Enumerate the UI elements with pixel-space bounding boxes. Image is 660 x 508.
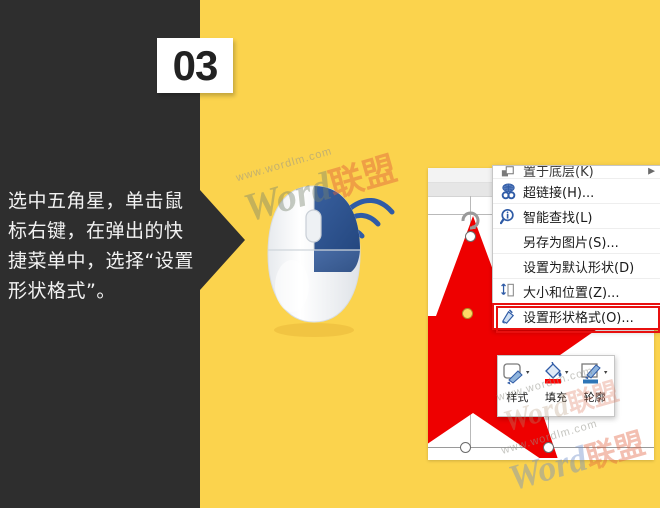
mini-toolbar-style-button[interactable]: 样式 [499, 361, 535, 405]
menu-item-send-to-back[interactable]: 置于底层(K) ▶ [493, 166, 660, 179]
menu-item-smart-lookup-label: 智能查找(L) [523, 207, 592, 226]
smart-lookup-icon [498, 207, 518, 225]
menu-item-size-and-position-label: 大小和位置(Z)... [523, 282, 619, 301]
instruction-caption: 选中五角星，单击鼠标右键，在弹出的快捷菜单中，选择“设置形状格式”。 [8, 186, 194, 306]
mini-toolbar-outline-label: 轮廓 [584, 389, 606, 405]
mini-toolbar-style-label: 样式 [506, 389, 528, 405]
shape-context-menu[interactable]: 置于底层(K) ▶ 超链接(H)... [492, 165, 660, 330]
shape-outline-icon [580, 361, 610, 387]
menu-item-hyperlink[interactable]: 超链接(H)... [493, 179, 660, 204]
shape-mini-toolbar[interactable]: 样式 填充 [497, 355, 615, 417]
mini-toolbar-fill-button[interactable]: 填充 [538, 361, 574, 405]
menu-item-smart-lookup[interactable]: 智能查找(L) [493, 204, 660, 229]
selection-handle-bottom-mid[interactable] [543, 442, 554, 453]
send-to-back-icon [498, 166, 518, 179]
mouse-icon [252, 158, 412, 343]
menu-item-size-and-position[interactable]: 大小和位置(Z)... [493, 279, 660, 304]
rotation-handle[interactable] [459, 208, 481, 230]
menu-item-hyperlink-label: 超链接(H)... [523, 182, 594, 201]
menu-item-save-as-picture[interactable]: 另存为图片(S)... [493, 229, 660, 254]
mouse-right-click-illustration [252, 158, 412, 343]
mini-toolbar-fill-label: 填充 [545, 389, 567, 405]
selection-handle-bottom-left[interactable] [460, 442, 471, 453]
shape-fill-icon [541, 361, 571, 387]
size-position-icon [498, 282, 518, 300]
selection-handle-top[interactable] [465, 231, 476, 242]
menu-item-format-shape-label: 设置形状格式(O)... [523, 307, 634, 326]
menu-item-send-to-back-label: 置于底层(K) [523, 166, 594, 179]
shape-style-icon [502, 361, 532, 387]
menu-item-save-as-picture-label: 另存为图片(S)... [523, 232, 619, 251]
hyperlink-icon [498, 182, 518, 200]
step-number-text: 03 [173, 45, 218, 87]
chevron-right-icon: ▶ [648, 166, 655, 179]
mini-toolbar-outline-button[interactable]: 轮廓 [577, 361, 613, 405]
shape-adjust-handle[interactable] [462, 308, 473, 319]
slide-canvas: 03 选中五角星，单击鼠标右键，在弹出的快捷菜单中，选择“设置形状格式”。 [0, 0, 660, 508]
step-number-badge: 03 [157, 38, 233, 93]
menu-item-set-as-default-shape-label: 设置为默认形状(D) [523, 257, 634, 276]
menu-item-set-as-default-shape[interactable]: 设置为默认形状(D) [493, 254, 660, 279]
format-shape-icon [498, 308, 518, 326]
menu-item-format-shape[interactable]: 设置形状格式(O)... [493, 304, 660, 329]
